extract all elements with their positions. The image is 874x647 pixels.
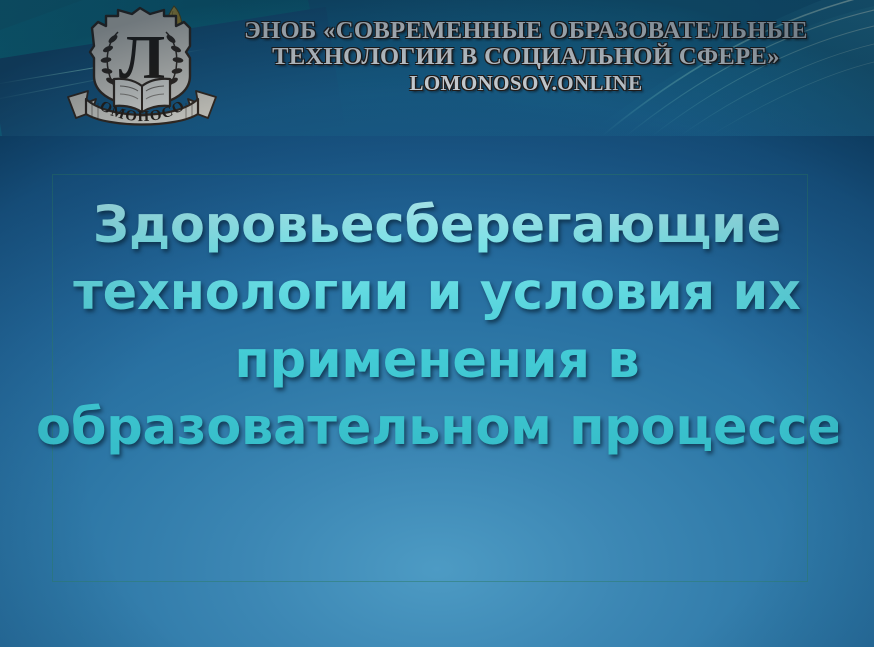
org-line-1: ЭНОБ «СОВРЕМЕННЫЕ ОБРАЗОВАТЕЛЬНЫЕ: [196, 18, 856, 44]
title-line-4: образовательном процессе: [36, 394, 838, 461]
header-banner: Л ЛОМОНОСОВ: [0, 0, 874, 136]
org-line-2: ТЕХНОЛОГИИ В СОЦИАЛЬНОЙ СФЕРЕ»: [196, 44, 856, 70]
slide-title: Здоровьесберегающие технологии и условия…: [36, 192, 838, 461]
title-line-3: применения в: [36, 327, 838, 394]
org-website: LOMONOSOV.ONLINE: [196, 72, 856, 95]
presentation-slide: Л ЛОМОНОСОВ: [0, 0, 874, 647]
title-line-1: Здоровьесберегающие: [36, 192, 838, 259]
header-organization-text: ЭНОБ «СОВРЕМЕННЫЕ ОБРАЗОВАТЕЛЬНЫЕ ТЕХНОЛ…: [196, 18, 856, 95]
title-line-2: технологии и условия их: [36, 259, 838, 326]
